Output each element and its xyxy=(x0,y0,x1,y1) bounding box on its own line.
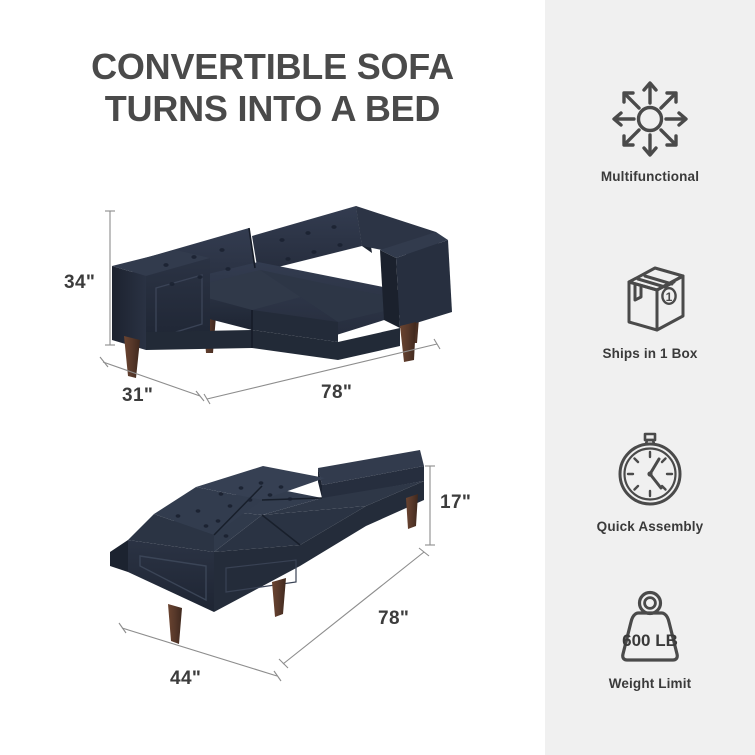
headline-line-1: CONVERTIBLE SOFA xyxy=(0,46,545,88)
feature-multifunctional: Multifunctional xyxy=(545,78,755,184)
sofa-tufting xyxy=(163,225,342,286)
weight-value: 600 LB xyxy=(622,631,678,650)
left-content-panel: CONVERTIBLE SOFA TURNS INTO A BED xyxy=(0,0,545,755)
shipping-box-icon: 1 xyxy=(604,255,696,337)
box-number: 1 xyxy=(666,290,673,304)
feature-ships-in-1-box: 1 Ships in 1 Box xyxy=(545,255,755,361)
feature-label-quick-assembly: Quick Assembly xyxy=(597,519,704,534)
multifunctional-arrows-icon xyxy=(604,78,696,160)
bed-dimension-lines xyxy=(119,466,435,681)
headline-line-2: TURNS INTO A BED xyxy=(0,88,545,130)
sofa-body xyxy=(112,206,452,378)
feature-label-ships-in-1-box: Ships in 1 Box xyxy=(602,346,697,361)
bed-height-label: 17" xyxy=(440,492,471,514)
bed-length-label: 78" xyxy=(378,608,409,630)
product-infographic: CONVERTIBLE SOFA TURNS INTO A BED xyxy=(0,0,755,755)
feature-quick-assembly: Quick Assembly xyxy=(545,428,755,534)
feature-label-weight-limit: Weight Limit xyxy=(609,676,692,691)
feature-weight-limit: 600 LB Weight Limit xyxy=(545,585,755,691)
bed-body xyxy=(110,450,424,644)
bed-width-label: 44" xyxy=(170,668,201,690)
sofa-height-label: 34" xyxy=(64,272,95,294)
sofa-depth-label: 31" xyxy=(122,385,153,407)
weight-icon: 600 LB xyxy=(604,585,696,667)
sofa-legs-back xyxy=(203,306,420,353)
bed-tufting xyxy=(176,481,293,537)
sofa-width-label: 78" xyxy=(321,382,352,404)
feature-rail: Multifunctional 1 xyxy=(545,0,755,755)
feature-label-multifunctional: Multifunctional xyxy=(601,169,699,184)
sofa-legs-front xyxy=(124,322,416,378)
sofa-dimension-lines xyxy=(100,211,440,404)
page-title: CONVERTIBLE SOFA TURNS INTO A BED xyxy=(0,46,545,130)
stopwatch-icon xyxy=(604,428,696,510)
